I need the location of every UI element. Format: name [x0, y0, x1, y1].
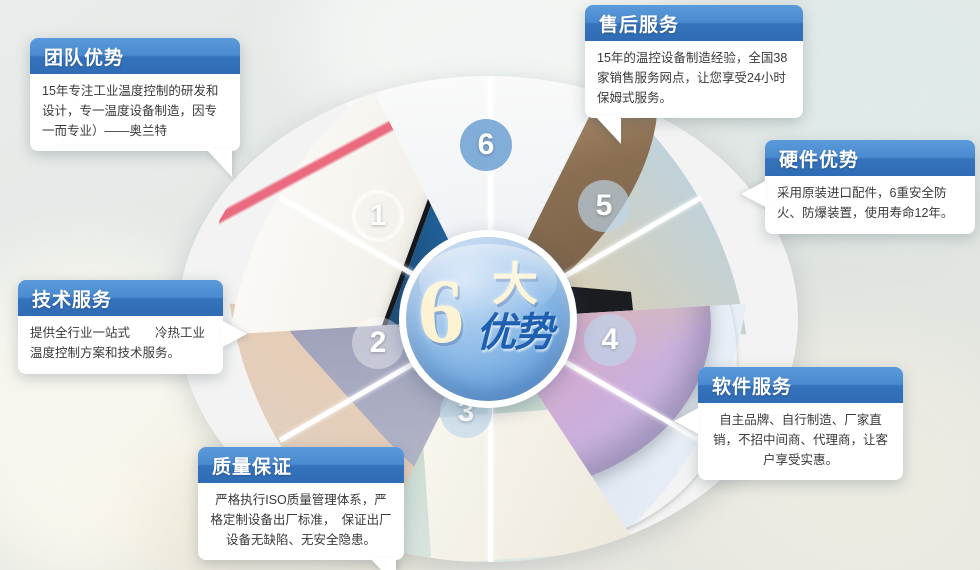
callout-title: 软件服务: [698, 367, 903, 403]
callout-body: 提供全行业一站式 冷热工业温度控制方案和技术服务。: [18, 316, 223, 374]
callout-tail-icon: [674, 407, 700, 435]
callout-title: 技术服务: [18, 280, 223, 316]
callout-tail-icon: [221, 320, 247, 348]
callout-title: 质量保证: [198, 447, 404, 483]
callout-body: 自主品牌、自行制造、厂家直销，不招中间商、代理商，让客户享受实惠。: [698, 403, 903, 480]
infographic-canvas: 1 2 3 4 5 6 6 大 优势 团队优势 15年专注工业温度控制的研发和设…: [0, 0, 980, 570]
callout-body: 采用原装进口配件，6重安全防火、防爆装置，使用寿命12年。: [765, 176, 975, 234]
center-disc: 6 大 优势: [406, 237, 570, 401]
callout-tail-icon: [741, 180, 767, 208]
center-label: 优势: [476, 311, 552, 355]
segment-number-5[interactable]: 5: [578, 180, 630, 232]
callout-team-advantage[interactable]: 团队优势 15年专注工业温度控制的研发和设计，专一温度设备制造，因专一而专业）—…: [30, 38, 240, 151]
callout-after-sales-service[interactable]: 售后服务 15年的温控设备制造经验，全国38家销售服务网点，让您享受24小时保姆…: [585, 5, 803, 118]
callout-technical-service[interactable]: 技术服务 提供全行业一站式 冷热工业温度控制方案和技术服务。: [18, 280, 223, 374]
callout-body: 15年的温控设备制造经验，全国38家销售服务网点，让您享受24小时保姆式服务。: [585, 41, 803, 118]
callout-tail-icon: [206, 149, 232, 177]
center-badge[interactable]: 6 大 优势: [399, 230, 577, 408]
segment-number-6[interactable]: 6: [460, 119, 512, 171]
callout-software-service[interactable]: 软件服务 自主品牌、自行制造、厂家直销，不招中间商、代理商，让客户享受实惠。: [698, 367, 903, 480]
callout-title: 团队优势: [30, 38, 240, 74]
center-number: 6: [418, 265, 464, 357]
segment-number-1[interactable]: 1: [352, 190, 404, 242]
callout-tail-icon: [595, 116, 621, 144]
callout-quality-assurance[interactable]: 质量保证 严格执行ISO质量管理体系，严格定制设备出厂标准， 保证出厂设备无缺陷…: [198, 447, 404, 560]
callout-body: 15年专注工业温度控制的研发和设计，专一温度设备制造，因专一而专业）——奥兰特: [30, 74, 240, 151]
callout-title: 售后服务: [585, 5, 803, 41]
callout-tail-icon: [370, 558, 396, 570]
center-unit-char: 大: [492, 261, 538, 307]
callout-body: 严格执行ISO质量管理体系，严格定制设备出厂标准， 保证出厂设备无缺陷、无安全隐…: [198, 483, 404, 560]
callout-title: 硬件优势: [765, 140, 975, 176]
callout-hardware-advantage[interactable]: 硬件优势 采用原装进口配件，6重安全防火、防爆装置，使用寿命12年。: [765, 140, 975, 234]
segment-number-4[interactable]: 4: [584, 314, 636, 366]
segment-number-2[interactable]: 2: [352, 317, 404, 369]
